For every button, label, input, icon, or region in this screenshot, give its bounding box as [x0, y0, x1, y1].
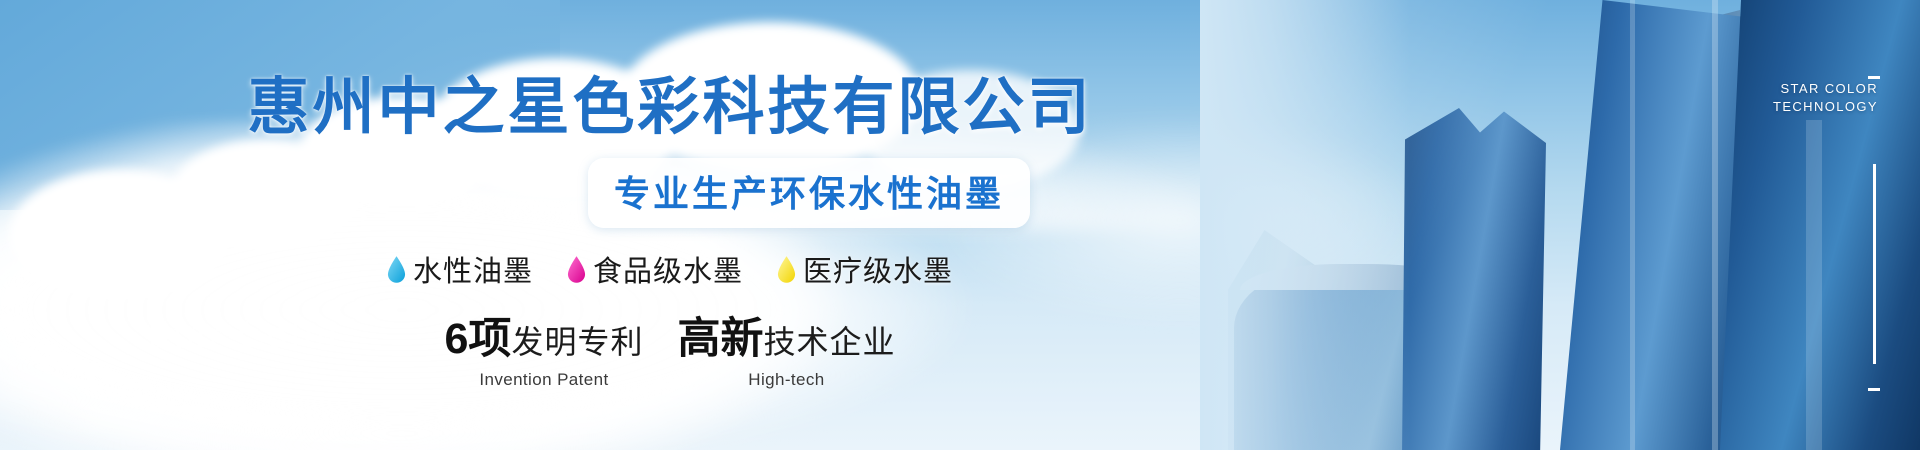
badge-main-text: 6项发明专利	[445, 318, 644, 361]
badge-english-text: High-tech	[677, 370, 895, 390]
badge-item: 高新技术企业 High-tech	[677, 318, 895, 390]
building-mullion	[1630, 0, 1635, 450]
accent-dash-top	[1868, 76, 1880, 79]
badge-item: 6项发明专利 Invention Patent	[445, 318, 644, 390]
badge-english-text: Invention Patent	[445, 370, 644, 390]
water-drop-icon	[777, 256, 796, 283]
feature-label: 水性油墨	[413, 248, 533, 290]
feature-item: 水性油墨	[387, 248, 533, 290]
subtitle-pill: 专业生产环保水性油墨	[588, 158, 1030, 228]
feature-label: 医疗级水墨	[803, 248, 953, 290]
water-drop-icon	[567, 256, 586, 283]
accent-dash-bottom	[1868, 388, 1880, 391]
feature-label: 食品级水墨	[593, 248, 743, 290]
subtitle-text: 专业生产环保水性油墨	[614, 165, 1004, 217]
building-center-tower	[1396, 108, 1546, 450]
feature-item: 医疗级水墨	[777, 248, 953, 290]
accent-vertical-rule	[1873, 164, 1876, 364]
feature-item: 食品级水墨	[567, 248, 743, 290]
badge-list: 6项发明专利 Invention Patent 高新技术企业 High-tech	[0, 318, 1340, 390]
building-mullion	[1712, 0, 1718, 450]
badge-main-text: 高新技术企业	[677, 318, 895, 361]
water-drop-icon	[387, 256, 406, 283]
corner-brand-line-2: TECHNOLOGY	[1728, 98, 1878, 116]
company-headline: 惠州中之星色彩科技有限公司	[0, 56, 1340, 146]
feature-list: 水性油墨 食品级水墨 医疗级水墨	[0, 248, 1340, 290]
building-mullion	[1806, 120, 1822, 450]
corner-brand-line-1: STAR COLOR	[1728, 80, 1878, 98]
badge-strong-text: 高新	[677, 315, 763, 363]
corner-brand-label: STAR COLOR TECHNOLOGY	[1728, 80, 1878, 116]
banner-content: 惠州中之星色彩科技有限公司 专业生产环保水性油墨 水性油墨	[0, 0, 1300, 450]
promo-banner: Star Color STAR COLOR TECHNOLOGY 惠州中之星色彩…	[0, 0, 1920, 450]
badge-strong-text: 6项	[445, 315, 512, 363]
badge-rest-text: 技术企业	[763, 324, 895, 360]
badge-rest-text: 发明专利	[511, 324, 643, 360]
